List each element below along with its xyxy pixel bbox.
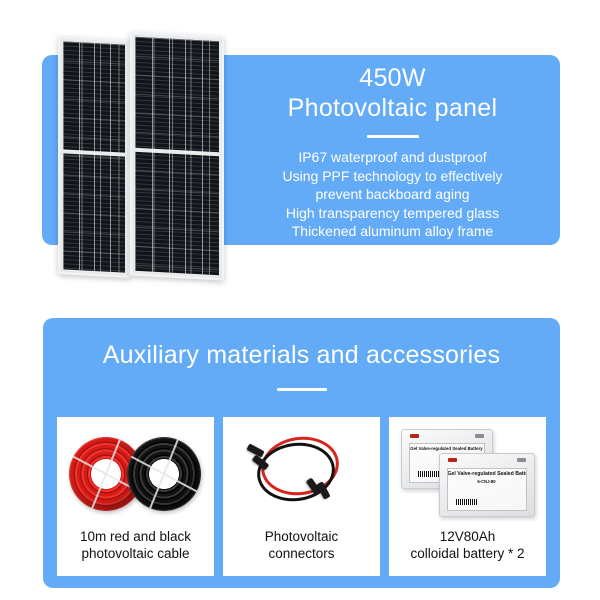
battery-negative-terminal-icon <box>475 434 484 438</box>
hero-feature-item: High transparency tempered glass <box>225 204 560 223</box>
accessory-caption-line2: connectors <box>265 546 339 563</box>
barcode-icon <box>456 499 478 505</box>
busbar-icon <box>94 43 95 271</box>
accessory-card-cable[interactable]: 10m red and black photovoltaic cable <box>57 417 214 576</box>
accessories-title: Auxiliary materials and accessories <box>43 318 560 370</box>
accessory-caption-line1: Photovoltaic <box>265 529 339 546</box>
mc4-connectors-image <box>227 421 377 529</box>
battery-model-number: 6-CNJ-80 <box>448 479 526 484</box>
battery-label-title: Gel Valve-regulated Sealed Battery <box>448 471 526 477</box>
busbar-icon <box>110 44 111 272</box>
solar-panel-product-image <box>56 28 226 280</box>
hero-divider <box>367 135 419 138</box>
accessory-card-list: 10m red and black photovoltaic cable Pho… <box>57 417 546 576</box>
accessory-caption: 10m red and black photovoltaic cable <box>76 529 195 562</box>
solar-panel-front <box>130 31 224 280</box>
battery-label-front: Gel Valve-regulated Sealed Battery 6-CNJ… <box>447 468 527 511</box>
battery-positive-terminal-icon <box>448 458 457 462</box>
panel-glass-back <box>63 41 125 272</box>
panel-glass-front <box>135 37 219 276</box>
accessory-card-battery[interactable]: Gel Valve-regulated Sealed Battery Gel V… <box>389 417 546 576</box>
hero-feature-item: IP67 waterproof and dustproof <box>225 148 560 167</box>
battery-label-title: Gel Valve-regulated Sealed Battery <box>410 446 484 451</box>
busbar-icon <box>169 39 170 273</box>
coil-tie <box>130 456 196 493</box>
busbar-icon <box>79 42 80 270</box>
hero-product-title: Photovoltaic panel <box>225 93 560 124</box>
solar-cell-grid <box>135 37 219 276</box>
product-hero-section: 450W Photovoltaic panel IP67 waterproof … <box>0 0 600 300</box>
cable-coils-image <box>61 421 211 529</box>
busbar-icon <box>152 38 153 272</box>
battery-negative-terminal-icon <box>517 458 526 462</box>
battery-positive-terminal-icon <box>410 434 419 438</box>
accessory-card-connectors[interactable]: Photovoltaic connectors <box>223 417 380 576</box>
black-cable-coil <box>127 437 201 511</box>
accessory-caption: 12V80Ah colloidal battery * 2 <box>406 529 528 562</box>
busbar-icon <box>202 40 203 274</box>
hero-wattage-title: 450W <box>225 63 560 93</box>
hero-feature-item: Thickened aluminum alloy frame <box>225 222 560 241</box>
accessory-caption: Photovoltaic connectors <box>261 529 343 562</box>
busbar-icon <box>185 39 186 273</box>
hero-feature-item: prevent backboard aging <box>225 185 560 204</box>
barcode-icon <box>418 471 440 477</box>
accessory-caption-line2: photovoltaic cable <box>80 546 191 563</box>
accessory-caption-line1: 12V80Ah <box>410 529 524 546</box>
battery-unit-front: Gel Valve-regulated Sealed Battery 6-CNJ… <box>439 453 535 517</box>
hero-feature-list: IP67 waterproof and dustproof Using PPF … <box>225 148 560 241</box>
accessory-caption-line2: colloidal battery * 2 <box>410 546 524 563</box>
accessory-caption-line1: 10m red and black <box>80 529 191 546</box>
accessories-section: Auxiliary materials and accessories 10m … <box>43 318 560 588</box>
batteries-image: Gel Valve-regulated Sealed Battery Gel V… <box>393 421 543 529</box>
solar-panel-back <box>58 36 130 278</box>
hero-feature-item: Using PPF technology to effectively <box>225 167 560 186</box>
hero-text-block: 450W Photovoltaic panel IP67 waterproof … <box>225 55 560 245</box>
accessories-divider <box>277 388 327 391</box>
